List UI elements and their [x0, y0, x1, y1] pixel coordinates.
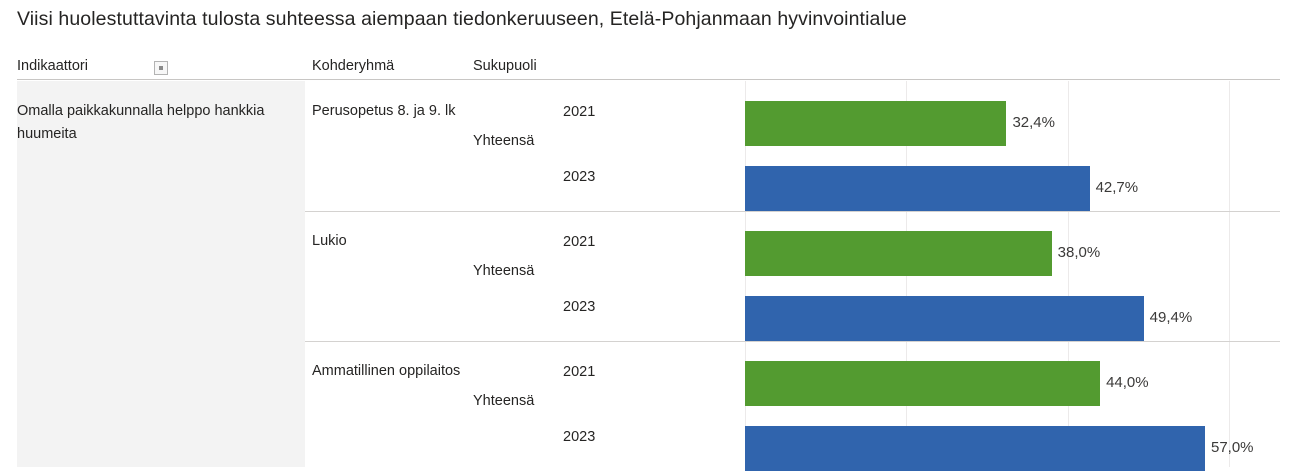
column-header-kohderyhma[interactable]: Kohderyhmä: [312, 58, 394, 74]
cell-year-2021: 2021: [563, 234, 595, 250]
cell-kohderyhma: Ammatillinen oppilaitos: [312, 360, 462, 382]
bar-2023-ammatillinen-oppilaitos[interactable]: [745, 426, 1205, 471]
column-header-row: Indikaattori Kohderyhmä Sukupuoli: [0, 58, 1290, 80]
cell-year-2023: 2023: [563, 429, 595, 445]
cell-sukupuoli: Yhteensä: [473, 263, 534, 279]
page-title: Viisi huolestuttavinta tulosta suhteessa…: [17, 8, 907, 31]
column-header-sukupuoli[interactable]: Sukupuoli: [473, 58, 537, 74]
bar-2021-lukio[interactable]: [745, 231, 1052, 276]
cell-year-2023: 2023: [563, 299, 595, 315]
column-header-indikaattori[interactable]: Indikaattori: [17, 58, 88, 74]
expand-plus-icon[interactable]: [154, 61, 168, 75]
bar-value-label: 57,0%: [1211, 439, 1254, 456]
bar-2021-perusopetus-8-ja-9-lk[interactable]: [745, 101, 1006, 146]
cell-kohderyhma: Perusopetus 8. ja 9. lk: [312, 100, 462, 122]
row-divider: [305, 341, 1280, 342]
bar-value-label: 49,4%: [1150, 309, 1193, 326]
bar-value-label: 42,7%: [1096, 179, 1139, 196]
cell-sukupuoli: Yhteensä: [473, 133, 534, 149]
cell-year-2023: 2023: [563, 169, 595, 185]
bar-value-label: 38,0%: [1058, 244, 1101, 261]
bar-2023-perusopetus-8-ja-9-lk[interactable]: [745, 166, 1090, 211]
cell-kohderyhma: Lukio: [312, 230, 462, 252]
cell-sukupuoli: Yhteensä: [473, 393, 534, 409]
cell-year-2021: 2021: [563, 104, 595, 120]
bar-2023-lukio[interactable]: [745, 296, 1144, 341]
cell-year-2021: 2021: [563, 364, 595, 380]
table-row[interactable]: Perusopetus 8. ja 9. lkYhteensä202132,4%…: [0, 81, 1290, 211]
table-row[interactable]: LukioYhteensä202138,0%202349,4%: [0, 211, 1290, 341]
bar-value-label: 44,0%: [1106, 374, 1149, 391]
table-row[interactable]: Ammatillinen oppilaitosYhteensä202144,0%…: [0, 341, 1290, 471]
report-canvas: Viisi huolestuttavinta tulosta suhteessa…: [0, 0, 1290, 467]
bar-2021-ammatillinen-oppilaitos[interactable]: [745, 361, 1100, 406]
row-divider: [305, 211, 1280, 212]
bar-value-label: 32,4%: [1012, 114, 1055, 131]
header-divider: [17, 79, 1280, 80]
